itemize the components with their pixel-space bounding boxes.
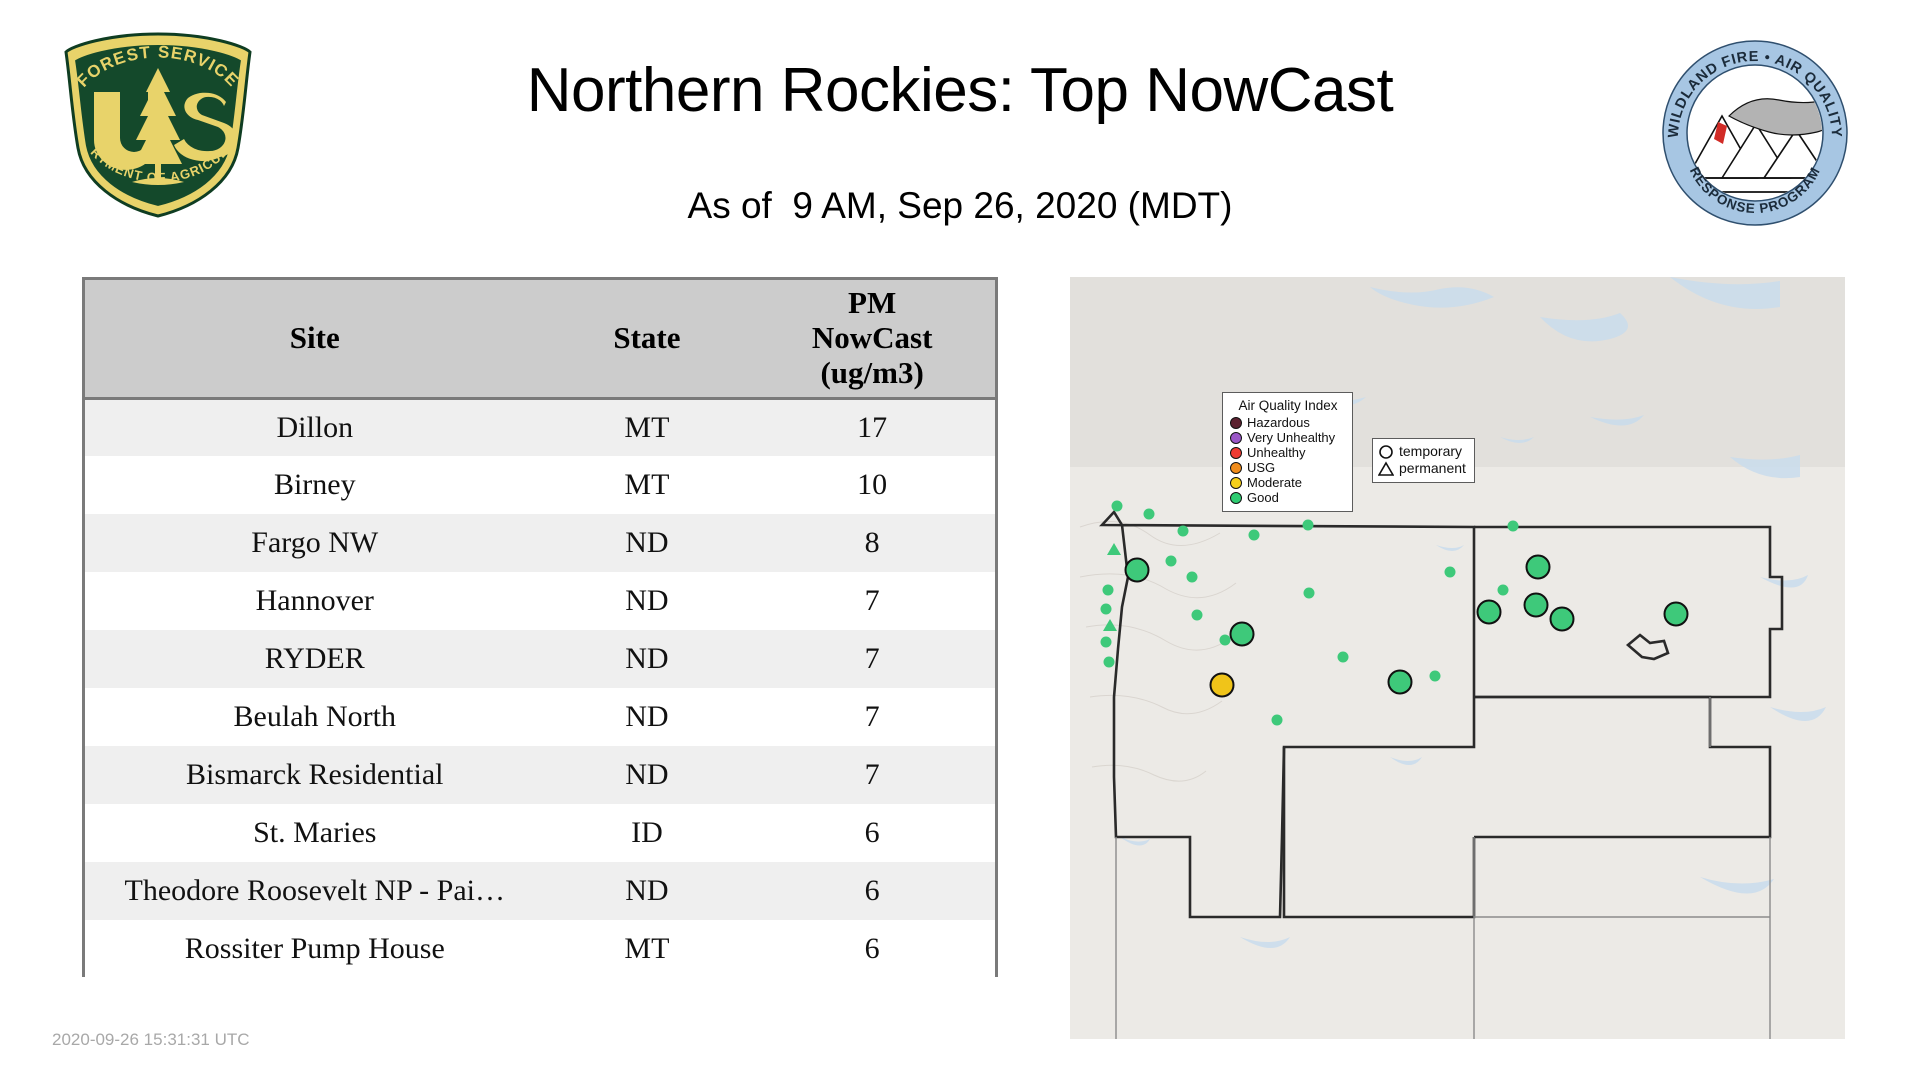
map-marker-good-large[interactable] (1524, 593, 1549, 618)
column-header-pm-line2: NowCast (749, 321, 995, 356)
map-marker-good[interactable] (1187, 572, 1198, 583)
table-row[interactable]: Birney MT 10 (85, 456, 995, 514)
cell-site: Hannover (85, 572, 545, 630)
cell-value: 7 (749, 572, 995, 630)
aqi-swatch-usg (1230, 462, 1242, 474)
symbol-legend-item-temporary: temporary (1378, 443, 1466, 460)
column-header-state[interactable]: State (545, 280, 750, 398)
aqi-legend-item-usg: USG (1230, 460, 1346, 475)
nowcast-table: Site State PM NowCast (ug/m3) Dillon MT … (85, 280, 995, 978)
cell-state: ND (545, 746, 750, 804)
map-marker-good[interactable] (1144, 509, 1155, 520)
aqi-label-good: Good (1247, 490, 1279, 505)
map-marker-good[interactable] (1304, 588, 1315, 599)
cell-value: 7 (749, 746, 995, 804)
table-header-row: Site State PM NowCast (ug/m3) (85, 280, 995, 398)
cell-value: 17 (749, 398, 995, 456)
symbol-legend: temporary permanent (1372, 438, 1475, 483)
aqi-swatch-good (1230, 492, 1242, 504)
map-marker-good[interactable] (1166, 556, 1177, 567)
map-marker-good[interactable] (1178, 526, 1189, 537)
aqi-swatch-moderate (1230, 477, 1242, 489)
aqi-label-moderate: Moderate (1247, 475, 1302, 490)
table-row[interactable]: RYDER ND 7 (85, 630, 995, 688)
map-marker-good[interactable] (1445, 567, 1456, 578)
table-row[interactable]: Beulah North ND 7 (85, 688, 995, 746)
map-marker-good-large[interactable] (1550, 607, 1575, 632)
map-terrain-basemap (1070, 277, 1845, 1039)
aqi-legend-item-good: Good (1230, 490, 1346, 505)
aqi-label-unhealthy: Unhealthy (1247, 445, 1306, 460)
circle-outline-icon (1378, 444, 1394, 460)
map-marker-good-large[interactable] (1477, 600, 1502, 625)
cell-state: ND (545, 514, 750, 572)
header: FOREST SERVICE DEPARTMENT OF AGRICULTURE… (0, 0, 1920, 270)
cell-value: 10 (749, 456, 995, 514)
cell-value: 8 (749, 514, 995, 572)
map-marker-good[interactable] (1430, 671, 1441, 682)
table-row[interactable]: Rossiter Pump House MT 6 (85, 920, 995, 978)
cell-state: ID (545, 804, 750, 862)
cell-state: MT (545, 398, 750, 456)
cell-state: MT (545, 920, 750, 978)
map-marker-good[interactable] (1192, 610, 1203, 621)
cell-state: ND (545, 572, 750, 630)
map-marker-good[interactable] (1498, 585, 1509, 596)
map-marker-good-large[interactable] (1230, 622, 1255, 647)
cell-site: Beulah North (85, 688, 545, 746)
symbol-label-permanent: permanent (1399, 460, 1466, 477)
cell-state: MT (545, 456, 750, 514)
aqi-legend-item-very-unhealthy: Very Unhealthy (1230, 430, 1346, 445)
map-marker-good[interactable] (1272, 715, 1283, 726)
page-title: Northern Rockies: Top NowCast (300, 55, 1620, 126)
aqi-label-very-unhealthy: Very Unhealthy (1247, 430, 1335, 445)
column-header-pm-nowcast[interactable]: PM NowCast (ug/m3) (749, 280, 995, 398)
map-marker-good[interactable] (1508, 521, 1519, 532)
cell-site: Birney (85, 456, 545, 514)
cell-state: ND (545, 630, 750, 688)
map-marker-moderate-large[interactable] (1210, 673, 1235, 698)
map-marker-good-large[interactable] (1388, 670, 1413, 695)
aqi-legend: Air Quality Index Hazardous Very Unhealt… (1222, 392, 1353, 512)
cell-state: ND (545, 862, 750, 920)
map-marker-good[interactable] (1338, 652, 1349, 663)
footer-timestamp: 2020-09-26 15:31:31 UTC (52, 1030, 250, 1050)
aqi-legend-item-unhealthy: Unhealthy (1230, 445, 1346, 460)
table-row[interactable]: Fargo NW ND 8 (85, 514, 995, 572)
slide-root: FOREST SERVICE DEPARTMENT OF AGRICULTURE… (0, 0, 1920, 1080)
column-header-pm-line3: (ug/m3) (749, 356, 995, 391)
cell-site: St. Maries (85, 804, 545, 862)
symbol-legend-item-permanent: permanent (1378, 460, 1466, 477)
map-marker-permanent[interactable] (1103, 619, 1117, 631)
page-subtitle: As of 9 AM, Sep 26, 2020 (MDT) (300, 185, 1620, 227)
wildland-fire-air-quality-icon: WILDLAND FIRE • AIR QUALITY RESPONSE PRO… (1660, 38, 1850, 228)
map-marker-good-large[interactable] (1125, 558, 1150, 583)
cell-value: 6 (749, 920, 995, 978)
aqi-swatch-very-unhealthy (1230, 432, 1242, 444)
triangle-outline-icon (1378, 461, 1394, 477)
aqi-label-usg: USG (1247, 460, 1275, 475)
aqi-legend-item-hazardous: Hazardous (1230, 415, 1346, 430)
aqi-legend-item-moderate: Moderate (1230, 475, 1346, 490)
cell-value: 7 (749, 630, 995, 688)
cell-value: 6 (749, 804, 995, 862)
aqi-map[interactable]: Air Quality Index Hazardous Very Unhealt… (1070, 277, 1845, 1039)
table-row[interactable]: Hannover ND 7 (85, 572, 995, 630)
cell-site: Bismarck Residential (85, 746, 545, 804)
cell-site: Dillon (85, 398, 545, 456)
map-marker-good[interactable] (1103, 585, 1114, 596)
column-header-site[interactable]: Site (85, 280, 545, 398)
map-marker-good[interactable] (1101, 637, 1112, 648)
table-row[interactable]: Dillon MT 17 (85, 398, 995, 456)
map-marker-good[interactable] (1303, 520, 1314, 531)
map-marker-good-large[interactable] (1664, 602, 1689, 627)
cell-site: Rossiter Pump House (85, 920, 545, 978)
cell-site: Theodore Roosevelt NP - Pai… (85, 862, 545, 920)
table-row[interactable]: St. Maries ID 6 (85, 804, 995, 862)
cell-value: 6 (749, 862, 995, 920)
map-marker-good-large[interactable] (1526, 555, 1551, 580)
map-marker-good[interactable] (1101, 604, 1112, 615)
aqi-swatch-unhealthy (1230, 447, 1242, 459)
column-header-pm-line1: PM (749, 286, 995, 321)
table-row[interactable]: Theodore Roosevelt NP - Pai… ND 6 (85, 862, 995, 920)
map-marker-good[interactable] (1249, 530, 1260, 541)
table-body: Dillon MT 17 Birney MT 10 Fargo NW ND 8 … (85, 398, 995, 978)
table-row[interactable]: Bismarck Residential ND 7 (85, 746, 995, 804)
cell-site: RYDER (85, 630, 545, 688)
forest-service-shield-icon: FOREST SERVICE DEPARTMENT OF AGRICULTURE (58, 30, 258, 220)
symbol-label-temporary: temporary (1399, 443, 1462, 460)
aqi-label-hazardous: Hazardous (1247, 415, 1310, 430)
cell-site: Fargo NW (85, 514, 545, 572)
map-marker-good[interactable] (1112, 501, 1123, 512)
map-marker-good[interactable] (1104, 657, 1115, 668)
nowcast-table-panel: Site State PM NowCast (ug/m3) Dillon MT … (82, 277, 998, 977)
map-marker-permanent[interactable] (1107, 543, 1121, 555)
aqi-swatch-hazardous (1230, 417, 1242, 429)
aqi-legend-title: Air Quality Index (1230, 398, 1346, 413)
cell-state: ND (545, 688, 750, 746)
cell-value: 7 (749, 688, 995, 746)
